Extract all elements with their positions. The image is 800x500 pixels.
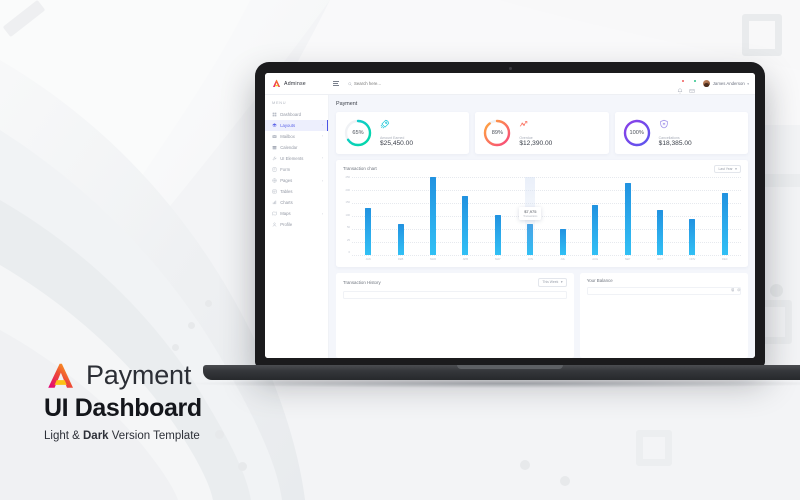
your-balance-card: Your Balance [580,273,748,358]
branding-title-row: Payment [44,360,202,391]
sidebar-item-pages[interactable]: Pages › [265,175,328,186]
bar[interactable] [592,205,598,255]
card-header: Transaction History This Week ▾ [343,278,567,287]
x-tick-label: OCT [644,258,676,261]
chart-filter-label: Last Year [718,167,732,171]
x-tick-label: DEC [709,258,741,261]
calendar-icon [272,145,277,150]
y-tick: 200 [346,190,350,193]
bar-column[interactable] [417,177,449,255]
sidebar-item-label: Tables [280,189,292,194]
sidebar-item-label: UI Elements [280,156,303,161]
bell-glyph [677,88,683,94]
branding-product: Payment [86,360,191,391]
chevron-down-icon: ▾ [735,167,737,171]
settings-icon[interactable] [737,279,741,283]
chart-title: Transaction chart [343,166,377,171]
bar-column[interactable] [449,177,481,255]
decor-dot [188,322,195,329]
donut-percent: 89% [482,118,512,148]
x-tick-label: JUN [514,258,546,261]
messages-icon[interactable] [689,81,695,87]
bar[interactable] [689,219,695,255]
decor-dot [770,284,783,297]
x-tick-label: FEB [384,258,416,261]
app-body: MENU Dashboard Layouts [265,95,755,358]
sidebar-item-calendar[interactable]: Calendar [265,142,328,153]
donut-chart: 65% [343,118,373,148]
bar-column[interactable] [676,177,708,255]
stat-cards-row: 65% Amount Earned $25,450.00 [336,112,748,154]
sidebar-item-arrow: › [322,212,323,216]
y-tick: 150 [346,202,350,205]
x-tick-label: MAR [417,258,449,261]
top-bar-icons: James Anderson ▾ [677,80,749,87]
y-axis: 250 200 150 100 50 25 0 [343,177,352,263]
top-bar-controls: James Anderson ▾ [329,80,755,87]
sidebar-item-label: Form [280,167,290,172]
tooltip-value: $7,975 [520,209,540,214]
stat-card-overdue[interactable]: 89% Overdue $12,390.00 [475,112,608,154]
rocket-icon [380,119,390,129]
chart-tooltip: $7,975Transactions [519,207,541,220]
payment-logo-icon [44,361,77,391]
chevron-down-icon: ▾ [747,82,749,86]
stat-label: Cancellations [659,136,692,140]
webcam [509,67,512,70]
branding-tagline: Light & Dark Version Template [44,430,202,442]
search-input[interactable] [354,81,424,86]
bar[interactable] [398,224,404,255]
donut-percent: 100% [622,118,652,148]
sidebar-item-label: Pages [280,178,292,183]
sidebar-item-layouts[interactable]: Layouts › [265,120,328,131]
stat-details: Cancellations $18,385.00 [659,118,692,148]
donut-chart: 100% [622,118,652,148]
sidebar-item-label: Maps [280,211,290,216]
sidebar-item-charts[interactable]: Charts [265,197,328,208]
page-title: Payment [336,101,748,107]
bar-column[interactable] [384,177,416,255]
bar-column[interactable] [579,177,611,255]
bar[interactable] [462,196,468,255]
history-filter-dropdown[interactable]: This Week ▾ [538,278,567,287]
tagline-pre: Light & [44,430,83,442]
decor-ring-bottom [636,430,672,466]
mail-icon [272,134,277,139]
bar-column[interactable] [352,177,384,255]
top-bar: Adminse [265,73,755,95]
sidebar-item-label: Charts [280,200,293,205]
online-status-dot [708,85,710,87]
x-tick-label: NOV [676,258,708,261]
stat-card-amount-earned[interactable]: 65% Amount Earned $25,450.00 [336,112,469,154]
stat-label: Amount Earned [380,136,413,140]
tagline-post: Version Template [109,430,200,442]
plot-area: $7,975Transactions JANFEBMARAPRMAYJUNJUL… [352,177,741,263]
x-tick-label: SEP [611,258,643,261]
app-brand-name: Adminse [284,81,306,87]
sidebar-item-label: Layouts [280,123,295,128]
x-axis: JANFEBMARAPRMAYJUNJULAUGSEPOCTNOVDEC [352,255,741,263]
chart-filter-dropdown[interactable]: Last Year ▾ [714,165,741,174]
laptop-base [203,365,800,380]
chevron-down-icon: ▾ [561,280,563,284]
layers-icon [272,123,277,128]
stat-amount: $18,385.00 [659,140,692,147]
card-title: Your Balance [587,278,613,283]
printer-icon[interactable] [731,279,735,283]
grid-icon [272,112,277,117]
bar[interactable] [365,208,371,255]
notification-badge [682,80,684,82]
y-tick: 50 [347,227,350,230]
y-tick: 25 [347,240,350,243]
sidebar-item-arrow: › [322,134,323,138]
envelope-glyph [689,88,695,94]
bar-column[interactable] [611,177,643,255]
sidebar-item-dashboard[interactable]: Dashboard [265,109,328,120]
sidebar-item-arrow: › [322,179,323,183]
card-title: Transaction History [343,280,381,285]
bar-column[interactable] [547,177,579,255]
branding-headline: UI Dashboard [44,394,202,423]
bottom-row: Transaction History This Week ▾ Your Bal… [336,273,748,358]
trend-line-icon [519,119,529,129]
sidebar-heading: MENU [265,100,328,109]
sidebar-item-arrow: › [322,156,323,160]
bar[interactable] [495,215,501,256]
decor-dot [520,460,530,470]
search-box[interactable] [348,81,677,86]
bar[interactable] [722,193,728,255]
bar-column[interactable]: $7,975Transactions [514,177,546,255]
card-actions [731,279,741,283]
bar-chart-icon [272,200,277,205]
notification-bell-icon[interactable] [677,81,683,87]
sidebar-item-profile[interactable]: Profile [265,219,328,230]
sidebar-item-ui-elements[interactable]: UI Elements › [265,153,328,164]
avatar [703,80,710,87]
sidebar-item-arrow: › [322,123,323,127]
decor-bar-right [760,174,800,187]
laptop-lid: Adminse [255,62,765,367]
wrench-icon [272,156,277,161]
balance-row [587,287,741,295]
card-header: Your Balance [587,278,741,283]
stat-amount: $25,450.00 [380,140,413,147]
y-tick: 100 [346,215,350,218]
bars-group: $7,975Transactions [352,177,741,255]
sidebar-item-label: Profile [280,222,292,227]
printer-glyph [731,288,735,292]
history-filter-label: This Week [542,280,558,284]
donut-percent: 65% [343,118,373,148]
bar[interactable] [657,210,663,255]
branding-block: Payment UI Dashboard Light & Dark Versio… [44,360,202,442]
chart-header: Transaction chart Last Year ▾ [343,165,741,174]
table-row [343,291,567,299]
tagline-strong: Dark [83,430,109,442]
sidebar-item-form[interactable]: Form [265,164,328,175]
sidebar-item-label: Calendar [280,145,297,150]
search-icon [348,82,352,86]
laptop-shadow [193,379,800,388]
chart-body: 250 200 150 100 50 25 0 [343,177,741,263]
stat-amount: $12,390.00 [519,140,552,147]
sidebar-item-mailbox[interactable]: Mailbox › [265,131,328,142]
form-icon [272,167,277,172]
sidebar: MENU Dashboard Layouts [265,95,329,358]
bar[interactable] [527,224,533,255]
stat-card-cancellations[interactable]: 100% Cancellations $18,385.00 [615,112,748,154]
decor-ring-top-right [742,14,782,56]
transaction-history-card: Transaction History This Week ▾ [336,273,574,358]
dashboard-screen: Adminse [265,73,755,358]
sidebar-item-label: Dashboard [280,112,301,117]
x-tick-label: JAN [352,258,384,261]
user-icon [272,222,277,227]
sidebar-item-maps[interactable]: Maps › [265,208,328,219]
bar-column[interactable] [644,177,676,255]
sidebar-item-label: Mailbox [280,134,295,139]
app-brand[interactable]: Adminse [265,79,329,88]
gear-glyph [737,288,741,292]
bar[interactable] [625,183,631,255]
donut-chart: 89% [482,118,512,148]
tooltip-label: Transactions [520,215,540,218]
decor-dot [560,476,570,486]
y-tick: 0 [349,252,351,255]
shield-x-icon [659,119,669,129]
x-tick-label: APR [449,258,481,261]
bar[interactable] [430,177,436,255]
sidebar-item-tables[interactable]: Tables [265,186,328,197]
decor-dot [172,344,179,351]
hamburger-icon[interactable] [333,81,339,86]
x-tick-label: JUL [547,258,579,261]
main-content: Payment 65% [329,95,755,358]
table-icon [272,189,277,194]
x-tick-label: MAY [482,258,514,261]
user-menu[interactable]: James Anderson ▾ [703,80,749,87]
decor-dot [205,300,212,307]
stat-details: Overdue $12,390.00 [519,118,552,148]
messages-badge [694,80,696,82]
y-tick: 250 [346,177,350,180]
bar-column[interactable] [709,177,741,255]
user-name: James Anderson [713,81,745,86]
decor-dot [215,430,224,439]
x-tick-label: AUG [579,258,611,261]
pages-icon [272,178,277,183]
map-icon [272,211,277,216]
bar[interactable] [560,229,566,256]
stat-label: Overdue [519,136,552,140]
bar-column[interactable] [482,177,514,255]
transaction-chart-card: Transaction chart Last Year ▾ 250 200 15… [336,160,748,268]
stat-details: Amount Earned $25,450.00 [380,118,413,148]
payment-logo-icon [272,79,281,88]
decor-dot [238,462,247,471]
